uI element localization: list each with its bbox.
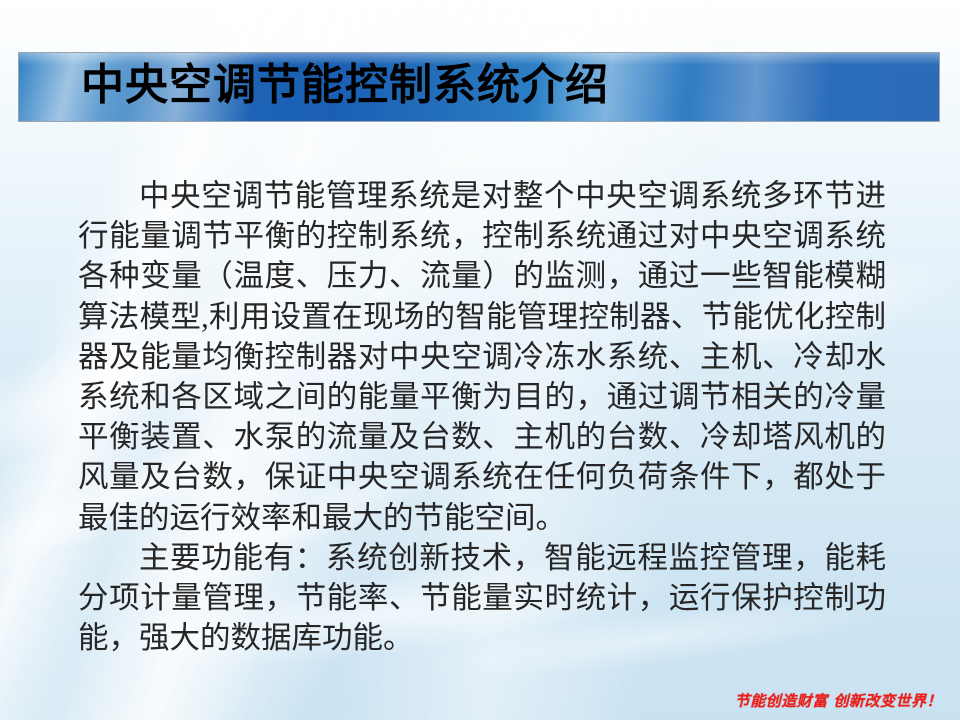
body-paragraph-2: 主要功能有：系统创新技术，智能远程监控管理，能耗分项计量管理，节能率、节能量实时… bbox=[78, 538, 886, 659]
slide-title: 中央空调节能控制系统介绍 bbox=[81, 65, 609, 108]
footer-slogan: 节能创造财富 创新改变世界！ bbox=[735, 690, 942, 711]
slide-body: 中央空调节能管理系统是对整个中央空调系统多环节进行能量调节平衡的控制系统，控制系… bbox=[78, 176, 886, 658]
body-paragraph-1: 中央空调节能管理系统是对整个中央空调系统多环节进行能量调节平衡的控制系统，控制系… bbox=[78, 176, 886, 538]
title-banner: 中央空调节能控制系统介绍 bbox=[18, 52, 940, 122]
slide-canvas: 中央空调节能控制系统介绍 中央空调节能管理系统是对整个中央空调系统多环节进行能量… bbox=[0, 0, 960, 720]
